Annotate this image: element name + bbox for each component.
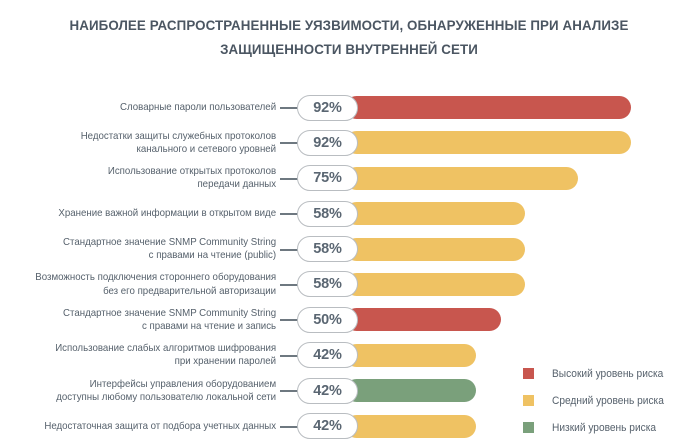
bar-low-risk [345, 379, 476, 402]
value-badge: 50% [297, 307, 358, 333]
legend-label: Средний уровень риска [552, 395, 664, 407]
row-label: Использование слабых алгоритмов шифрован… [14, 338, 278, 373]
row-label: Недостаточная защита от подбора учетных … [14, 409, 278, 444]
vulnerability-bar-chart: НАИБОЛЕЕ РАСПРОСТРАНЕННЫЕ УЯЗВИМОСТИ, ОБ… [0, 0, 698, 435]
value-badge: 42% [297, 342, 358, 368]
legend-label: Низкий уровень риска [552, 422, 656, 434]
value-badge: 58% [297, 271, 358, 297]
chart-row: Стандартное значение SNMP Community Stri… [0, 302, 698, 337]
chart-legend: Высокий уровень рискаСредний уровень рис… [523, 360, 669, 441]
bar-medium-risk [345, 167, 578, 190]
legend-swatch-low [523, 422, 534, 433]
row-label: Использование открытых протоколов переда… [14, 161, 278, 196]
value-badge: 92% [297, 130, 358, 156]
row-label: Словарные пароли пользователей [14, 90, 278, 125]
bar-high-risk [345, 308, 501, 331]
value-badge: 75% [297, 165, 358, 191]
bar-medium-risk [345, 415, 476, 438]
value-badge: 42% [297, 378, 358, 404]
bar-medium-risk [345, 131, 631, 154]
chart-row: Недостатки защиты служебных протоколов к… [0, 125, 698, 160]
row-label: Возможность подключения стороннего обору… [14, 267, 278, 302]
bar-track [345, 131, 698, 154]
legend-swatch-high [523, 368, 534, 379]
bar-track [345, 167, 698, 190]
row-label: Хранение важной информации в открытом ви… [14, 196, 278, 231]
bar-track [345, 238, 698, 261]
legend-item-high: Высокий уровень риска [523, 360, 669, 387]
row-label: Интерфейсы управления оборудованием дост… [14, 373, 278, 408]
chart-row: Словарные пароли пользователей92% [0, 90, 698, 125]
legend-item-medium: Средний уровень риска [523, 387, 669, 414]
bar-medium-risk [345, 344, 476, 367]
bar-track [345, 96, 698, 119]
bar-medium-risk [345, 273, 525, 296]
legend-swatch-medium [523, 395, 534, 406]
bar-medium-risk [345, 202, 525, 225]
chart-title: НАИБОЛЕЕ РАСПРОСТРАНЕННЫЕ УЯЗВИМОСТИ, ОБ… [49, 14, 649, 62]
chart-row: Возможность подключения стороннего обору… [0, 267, 698, 302]
legend-label: Высокий уровень риска [552, 368, 663, 380]
bar-track [345, 308, 698, 331]
value-badge: 58% [297, 236, 358, 262]
bar-track [345, 202, 698, 225]
chart-row: Использование открытых протоколов переда… [0, 161, 698, 196]
chart-row: Стандартное значение SNMP Community Stri… [0, 232, 698, 267]
bar-medium-risk [345, 238, 525, 261]
chart-row: Хранение важной информации в открытом ви… [0, 196, 698, 231]
value-badge: 92% [297, 95, 358, 121]
legend-item-low: Низкий уровень риска [523, 414, 669, 441]
row-label: Недостатки защиты служебных протоколов к… [14, 125, 278, 160]
value-badge: 42% [297, 413, 358, 439]
bar-high-risk [345, 96, 631, 119]
bar-track [345, 273, 698, 296]
value-badge: 58% [297, 201, 358, 227]
row-label: Стандартное значение SNMP Community Stri… [14, 302, 278, 337]
row-label: Стандартное значение SNMP Community Stri… [14, 232, 278, 267]
